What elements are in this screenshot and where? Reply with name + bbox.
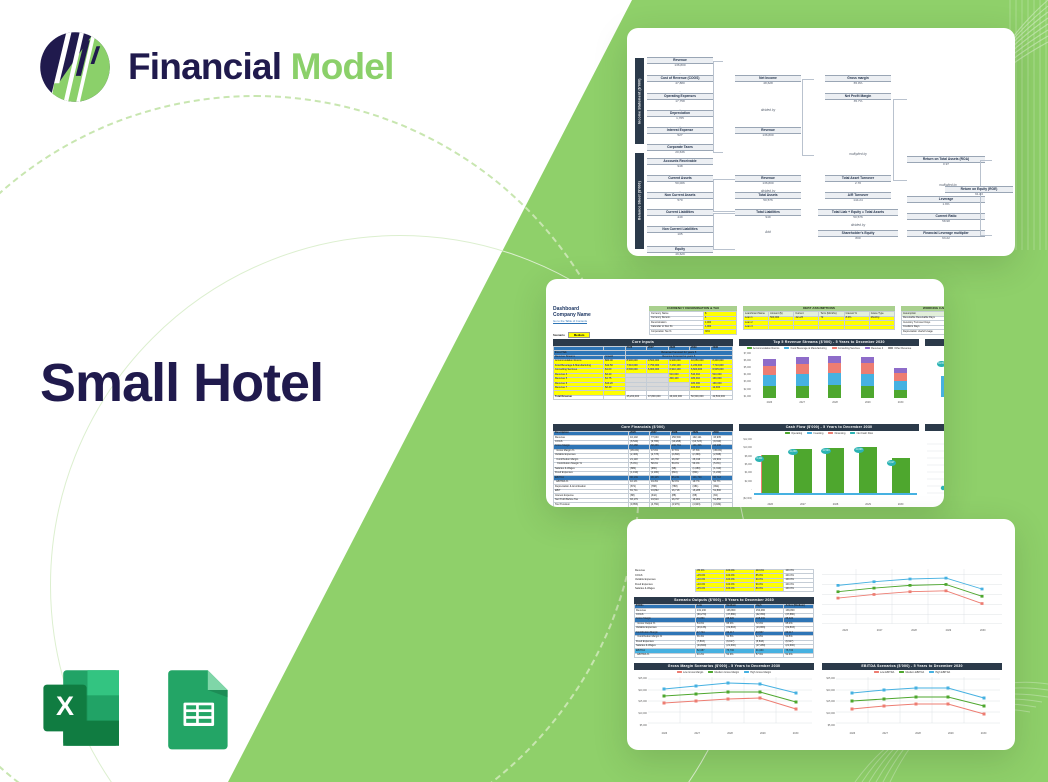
back-to-contents-link[interactable]: Go to the Table of Contents [553, 319, 643, 323]
dashboard-sheet: Dashboard Company Name Go to the Table o… [546, 279, 944, 507]
promo-slide: Financial Model Small Hotel X [0, 0, 1048, 782]
working-capital-panel: WORKING CAPITAL & DEPRECIATION Assumptio… [901, 306, 944, 335]
node-non-current-liabilities: Non Current Liabilities105 [647, 226, 713, 237]
file-format-icons: X [38, 663, 242, 753]
revenue-streams-chart: $7,000 $6,000 $5,000 $4,000 $3,000 $2,00… [739, 352, 919, 404]
debt-assumptions-panel: DEBT ASSUMPTIONS Loan/Grant NameAmount (… [743, 306, 895, 330]
dashboard-title-block: Dashboard Company Name Go to the Table o… [553, 306, 643, 338]
operator-multiplied-by-1: multiplied by [828, 152, 888, 156]
ebitda-lines [836, 677, 1000, 725]
dashboard-screenshot[interactable]: Dashboard Company Name Go to the Table o… [546, 279, 944, 507]
node-non-current-assets: Non Current Assets570 [647, 192, 713, 203]
cash-flow-panel: Cash Flow ($'000) - 5 Years to December … [739, 424, 919, 507]
microsoft-excel-icon: X [38, 663, 128, 753]
ebitda-chart: $25,000 $20,000 $15,000 $10,000 $5,000 [822, 675, 1002, 737]
top-revenue-streams-panel: Top 5 Revenue Streams ($'000) - 5 Years … [739, 339, 919, 404]
node-operating-expenses: Operating Expenses17,758 [647, 93, 713, 104]
brand-name: Financial Model [128, 46, 394, 88]
node-depreciation: Depreciation1,765 [647, 110, 713, 121]
profitability-chart: 34.9% 35.9% 36.6% 37.4% 33.1% 2026 2027 … [925, 351, 944, 403]
node-net-profit-margin: Net Profit Margin35.7% [825, 93, 891, 104]
operator-divided-by-1: divided by [738, 108, 798, 112]
profitability-panel: Profitability ($'000) - 5 Years to Decem… [925, 339, 944, 403]
scenarios-sheet: Revenue-80.0%100.0%110.0%100.0% COGS+15.… [627, 519, 1015, 750]
dupont-tree: Income Statement ($'000) Balance Sheet (… [635, 58, 1005, 238]
node-roe: Return on Equity (ROE)61.03 [945, 186, 1013, 197]
node-total-liab-equity: Total Liab + Equity = Total Assets50,576 [818, 209, 898, 220]
node-net-income: Net Income48,628 [735, 75, 801, 86]
node-accounts-receivable: Accounts Receivable948 [647, 158, 713, 169]
scenario-value[interactable]: Medium [568, 332, 591, 338]
node-leverage: Leverage1.9% [907, 196, 985, 207]
scenario-assumptions-table: Revenue-80.0%100.0%110.0%100.0% COGS+15.… [634, 569, 814, 592]
payback-chart: $70,000 $60,000 $50,000 $40,000 $30,000 … [925, 436, 944, 507]
dupont-sheet: Income Statement ($'000) Balance Sheet (… [627, 28, 1015, 256]
core-financials-table: Description20262027202820292030 Revenue1… [553, 431, 733, 507]
node-current-ratio: Current Ratio58.98 [907, 213, 985, 224]
ebitda-scenarios-panel: EBITDA Scenarios ($'000) - 5 Years to De… [822, 663, 1002, 737]
node-revenue-2: Revenue136,800 [735, 127, 801, 138]
node-gross-margin: Gross margin65.0% [825, 75, 891, 86]
node-shareholders-equity: Shareholder's Equity800 [818, 230, 898, 241]
core-inputs-table: 20262027202820292030 Excel TabRevenue Fo… [553, 346, 733, 401]
dashboard-body: Dashboard Company Name Go to the Table o… [553, 306, 937, 493]
page-title: Small Hotel [40, 352, 323, 414]
google-sheets-icon [152, 663, 242, 753]
scenario-outputs-table: $'000sLowMediumHighActive (Medium) Reven… [634, 604, 814, 659]
node-total-assets: Total Assets50,576 [735, 192, 801, 203]
node-interest-expense: Interest Expense527 [647, 127, 713, 138]
node-equity: Equity49,629 [647, 246, 713, 256]
node-roa: Return on Total Assets (ROA)0.97 [907, 156, 985, 167]
node-total-asset-turnover: Total Asset Turnover2.70 [825, 175, 891, 186]
currency-table: Currency Name$ Currency Denom.1 Denomina… [649, 311, 737, 334]
core-financials-panel: Core Financials ($'000) Description20262… [553, 424, 733, 507]
cash-flow-chart: $12,000 $10,000 $8,000 $6,000 $4,000 $2,… [739, 436, 919, 507]
scenario-outputs-panel: Scenario Outputs ($'000) - 5 Years to De… [634, 597, 814, 658]
node-total-liabilities: Total Liabilities949 [735, 209, 801, 220]
dupont-analysis-screenshot[interactable]: Income Statement ($'000) Balance Sheet (… [627, 28, 1015, 256]
node-corporate-taxes: Corporate Taxes20,636 [647, 144, 713, 155]
node-cogs: Cost of Revenue (COGS)47,880 [647, 75, 713, 86]
investment-payback-panel: Investment Payback Chart ($'000) - 5 Yea… [925, 424, 944, 507]
working-capital-table: AssumptionDays Receivable Receivable Day… [901, 311, 944, 334]
scenario-top-right-chart: 2026 2027 2028 2029 2030 [822, 569, 1002, 647]
gross-margin-scenarios-panel: Gross Margin Scenarios ($'000) - 5 Years… [634, 663, 814, 737]
gross-margin-lines [648, 677, 812, 725]
circle-bar-chart-logo-icon [38, 30, 112, 104]
revenue-streams-legend: Accommodation Rooms Food Beverage & Manu… [739, 346, 919, 351]
brand-logo: Financial Model [38, 30, 394, 104]
brand-name-part2: Model [291, 46, 394, 87]
income-statement-band: Income Statement ($'000) [635, 58, 644, 144]
gross-margin-chart: $25,000 $20,000 $15,000 $10,000 $5,000 [634, 675, 814, 737]
operator-add: Add [738, 230, 798, 234]
node-revenue-3: Revenue136,800 [735, 175, 801, 186]
node-current-liabilities: Current Liabilities449 [647, 209, 713, 220]
operator-divided-by-3: divided by [828, 223, 888, 227]
scenario-inputs-table: Revenue-80.0%100.0%110.0%100.0% COGS+15.… [634, 569, 814, 592]
payback-line [927, 440, 944, 496]
scenario-label: Scenario [553, 333, 565, 337]
node-current-assets: Current Assets50,006 [647, 175, 713, 186]
brand-name-part1: Financial [128, 46, 281, 87]
node-financial-leverage-multiplier: Financial Leverage multiplier63.22 [907, 230, 985, 241]
svg-text:X: X [56, 691, 74, 721]
currency-denomination-panel: CURRENCY DENOMINATION & TAX Currency Nam… [649, 306, 737, 335]
scenarios-screenshot[interactable]: Revenue-80.0%100.0%110.0%100.0% COGS+15.… [627, 519, 1015, 750]
node-ar-turnover: A/R Turnover144.24 [825, 192, 891, 203]
scenarios-body: Revenue-80.0%100.0%110.0%100.0% COGS+15.… [634, 541, 1008, 738]
node-revenue: Revenue136,800 [647, 57, 713, 68]
debt-table: Loan/Grant NameAmount ($)CurrentTerm (Mo… [743, 311, 895, 330]
balance-sheet-band: Balance Sheet ($'000) [635, 153, 644, 249]
scenario-overview-line-chart [822, 569, 1002, 629]
core-inputs-panel: Core Inputs 20262027202820292030 Excel T… [553, 339, 733, 400]
